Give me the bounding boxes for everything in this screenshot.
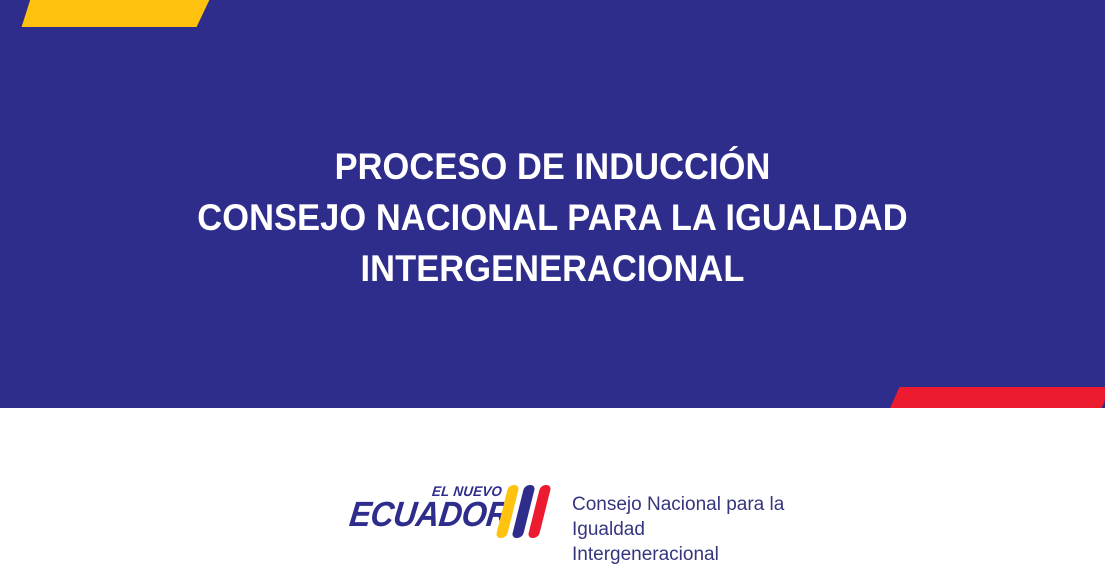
institution-line-2: Igualdad bbox=[572, 517, 784, 542]
institution-line-1: Consejo Nacional para la bbox=[572, 492, 784, 517]
institution-name: Consejo Nacional para la Igualdad Interg… bbox=[572, 492, 784, 567]
footer-content: EL NUEVO ECUADOR Consejo Nacional para l… bbox=[352, 483, 784, 567]
title-line-2: CONSEJO NACIONAL PARA LA IGUALDAD bbox=[39, 192, 1067, 243]
yellow-parallelogram-decoration bbox=[0, 0, 216, 27]
institution-line-3: Intergeneracional bbox=[572, 542, 784, 567]
presentation-slide: PROCESO DE INDUCCIÓN CONSEJO NACIONAL PA… bbox=[0, 0, 1105, 579]
flag-bars-icon bbox=[502, 485, 554, 538]
footer-band: EL NUEVO ECUADOR Consejo Nacional para l… bbox=[0, 408, 1105, 579]
logo-wordmark: ECUADOR bbox=[347, 496, 511, 534]
title-line-1: PROCESO DE INDUCCIÓN bbox=[39, 141, 1067, 192]
title-line-3: INTERGENERACIONAL bbox=[39, 243, 1067, 294]
el-nuevo-ecuador-logo: EL NUEVO ECUADOR bbox=[352, 483, 552, 545]
page-title: PROCESO DE INDUCCIÓN CONSEJO NACIONAL PA… bbox=[39, 141, 1067, 294]
